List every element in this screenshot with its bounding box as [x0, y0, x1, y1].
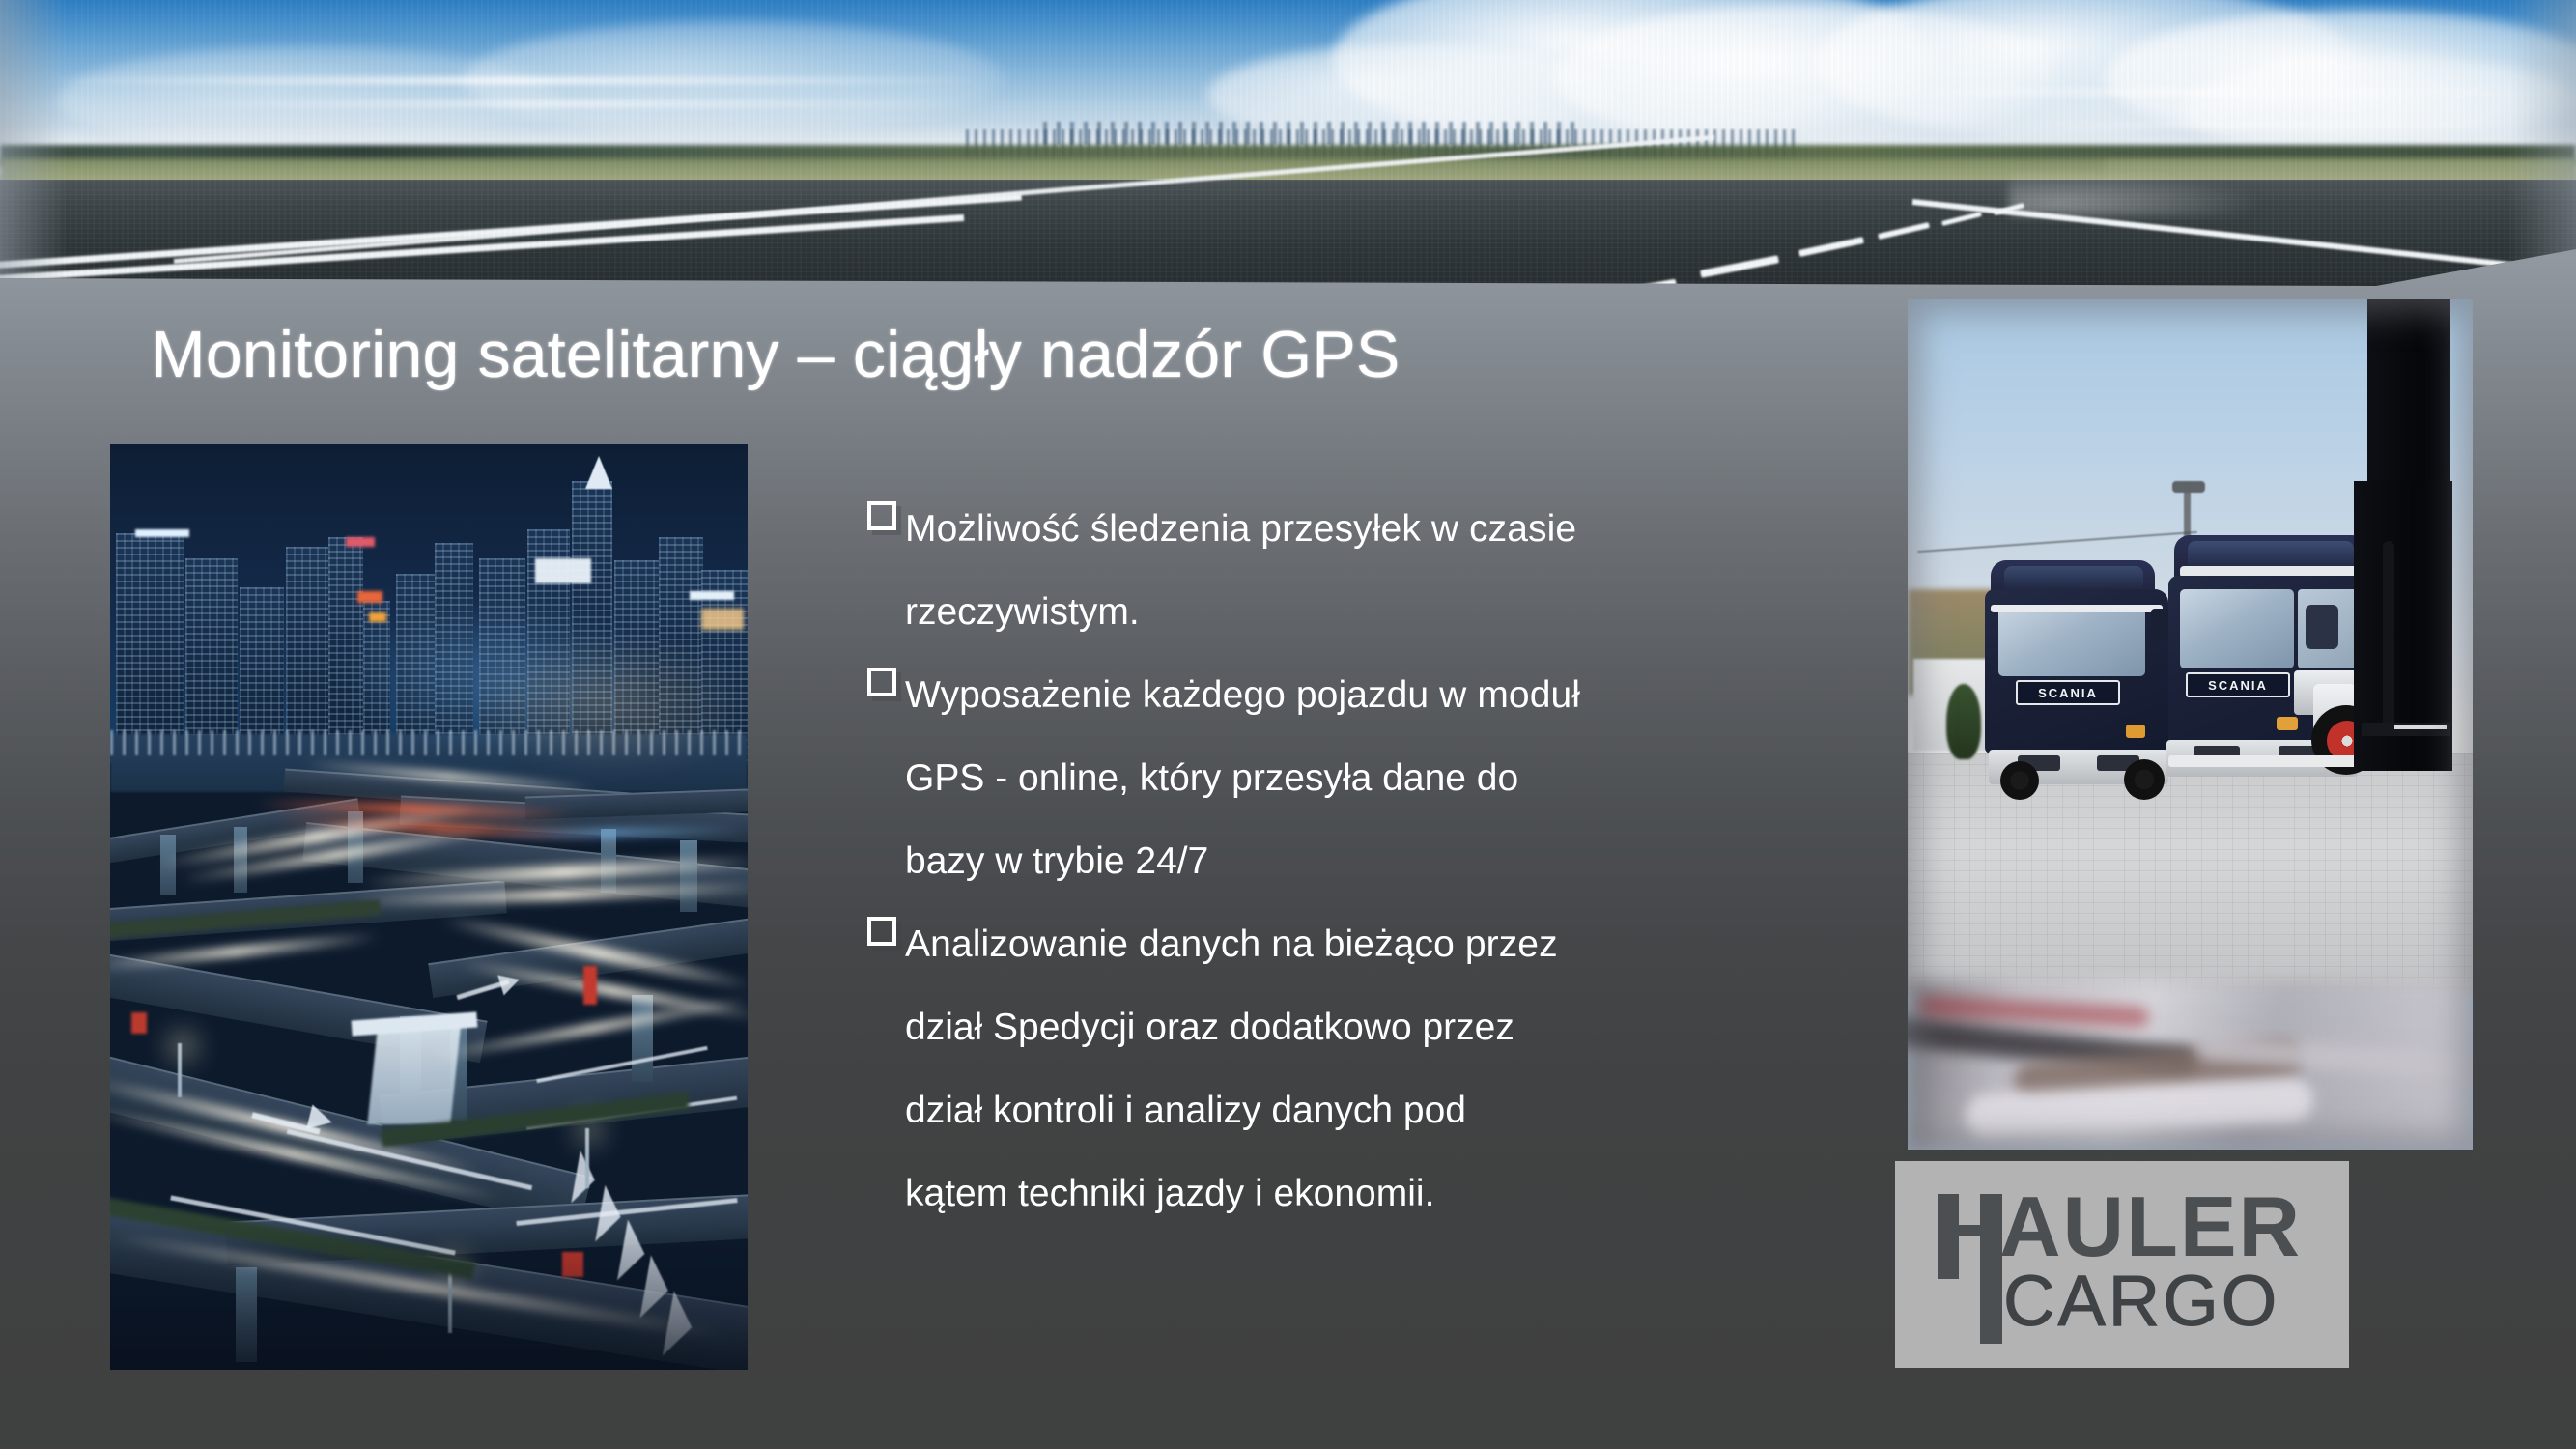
- list-item: Wyposażenie każdego pojazdu w moduł: [867, 654, 1843, 737]
- trailer-marker: [2394, 724, 2447, 729]
- tower-spire: [585, 456, 612, 489]
- indicator-light: [2126, 724, 2145, 738]
- side-skirt: [2168, 755, 2362, 767]
- red-barrier: [131, 1012, 147, 1034]
- lamp-glow: [166, 1030, 199, 1063]
- bullet-line: Analizowanie danych na bieżąco przez: [905, 903, 1558, 986]
- photo-vignette: [110, 1225, 748, 1370]
- presentation-slide: Monitoring satelitarny – ciągły nadzór G…: [0, 0, 2576, 1449]
- hauler-cargo-logo: AULER CARGO: [1895, 1161, 2349, 1368]
- list-item: Możliwość śledzenia przesyłek w czasie: [867, 488, 1843, 571]
- hollow-square-bullet-icon: [867, 501, 896, 530]
- hollow-square-bullet-icon: [867, 917, 896, 946]
- bridge-pier: [632, 995, 653, 1082]
- truck-wheel: [2000, 761, 2039, 800]
- bridge-pier: [680, 840, 697, 912]
- bullet-line: dział kontroli i analizy danych pod: [867, 1069, 1843, 1152]
- cloud-streak: [174, 100, 966, 107]
- highway-banner-photo: [0, 0, 2576, 290]
- neon-sign: [369, 612, 386, 622]
- lamp-head: [2172, 481, 2205, 493]
- conifer-bush: [1946, 684, 1981, 759]
- lit-billboard: [535, 558, 591, 583]
- side-mirror: [2151, 609, 2170, 641]
- bullet-line: bazy w trybie 24/7: [867, 820, 1843, 903]
- banner-edge-fade: [0, 0, 68, 290]
- street-lamp: [178, 1043, 182, 1097]
- neon-sign: [357, 591, 382, 603]
- driver-seat: [2306, 605, 2338, 649]
- logo-h-left-stem: [1938, 1194, 1959, 1279]
- truck-wheel: [2124, 759, 2165, 800]
- lowrise-windows: [110, 730, 748, 755]
- exhaust-stack: [2383, 541, 2394, 734]
- bullet-line: Możliwość śledzenia przesyłek w czasie: [905, 488, 1576, 571]
- bullet-line: rzeczywistym.: [867, 571, 1843, 654]
- bullet-line: kątem techniki jazdy i ekonomii.: [867, 1152, 1843, 1236]
- cloud-streak: [39, 77, 985, 84]
- bullet-list: Możliwość śledzenia przesyłek w czasie r…: [867, 488, 1843, 1236]
- tower-building: [572, 481, 612, 765]
- scania-trucks-photo: SCANIA SCANIA: [1908, 299, 2473, 1150]
- bridge-pier: [234, 827, 247, 893]
- banner-edge-fade: [2508, 0, 2576, 290]
- vanishing-point-glow: [2009, 172, 2260, 216]
- truck-roof-panel: [2004, 566, 2143, 591]
- bullet-line: Wyposażenie każdego pojazdu w moduł: [905, 654, 1580, 737]
- page-title: Monitoring satelitarny – ciągły nadzór G…: [151, 317, 1793, 392]
- lit-facade: [701, 609, 744, 630]
- bullet-line: GPS - online, który przesyła dane do: [867, 737, 1843, 820]
- indicator-light: [2277, 717, 2298, 730]
- city-night-interchange-photo: [110, 444, 748, 1370]
- rooftop-light: [690, 591, 734, 600]
- bullet-line: dział Spedycji oraz dodatkowo przez: [867, 986, 1843, 1069]
- red-barrier: [583, 966, 597, 1005]
- truck-windshield: [2180, 589, 2294, 668]
- list-item: Analizowanie danych na bieżąco przez: [867, 903, 1843, 986]
- cab-trim: [1991, 605, 2163, 612]
- bridge-pier-lit: [367, 1020, 461, 1124]
- truck-windshield: [1998, 607, 2145, 676]
- hollow-square-bullet-icon: [867, 668, 896, 696]
- scania-badge: SCANIA: [2016, 680, 2120, 705]
- bridge-pier: [601, 829, 616, 893]
- street-lamp: [585, 1128, 589, 1188]
- logo-primary-text: AULER: [1999, 1184, 2302, 1269]
- neon-sign: [346, 537, 375, 547]
- rooftop-light: [135, 529, 189, 537]
- paved-yard: [1908, 753, 2473, 995]
- logo-secondary-text: CARGO: [2003, 1265, 2279, 1337]
- cloud-streak: [1835, 89, 2569, 96]
- scania-badge: SCANIA: [2186, 672, 2290, 697]
